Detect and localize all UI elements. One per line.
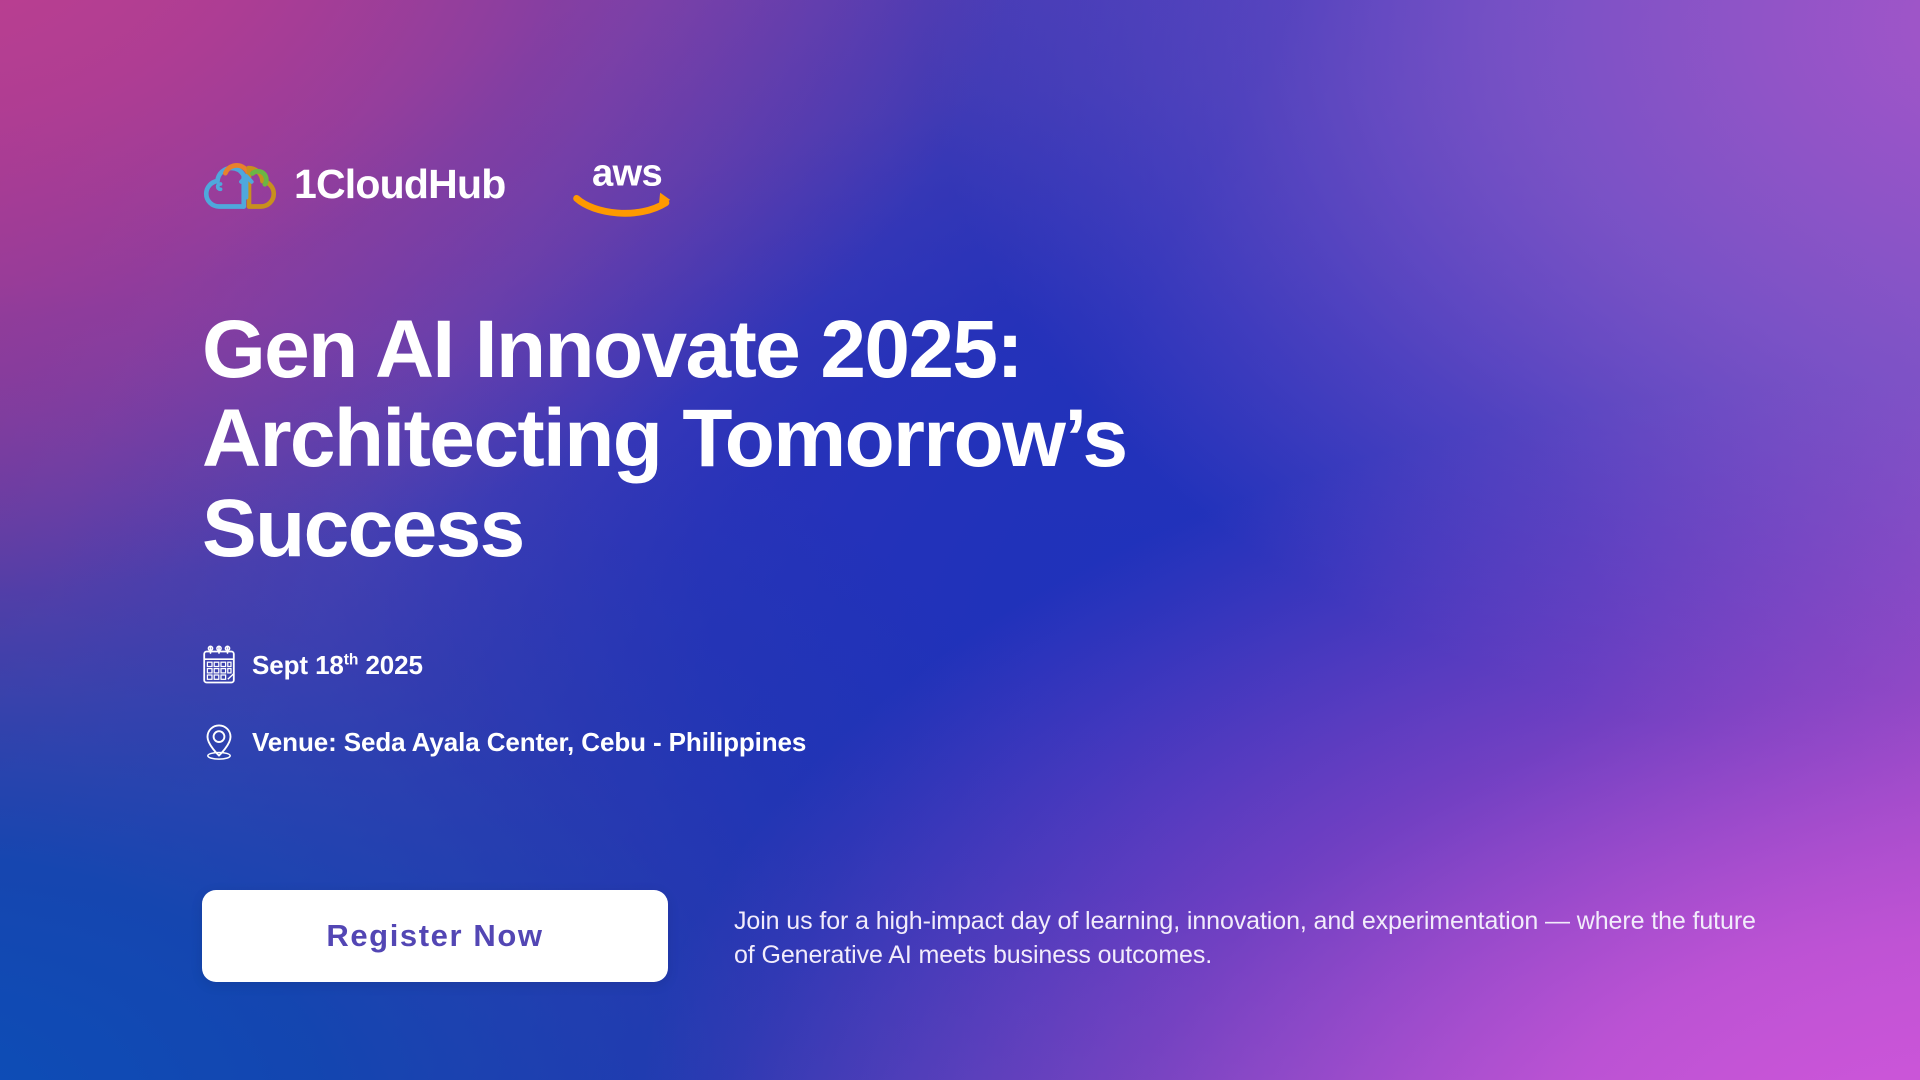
location-pin-icon	[202, 722, 236, 762]
event-date-row: Sept 18th 2025	[202, 645, 806, 685]
event-date-label: Sept 18th 2025	[252, 650, 423, 681]
register-now-button[interactable]: Register Now	[202, 890, 668, 982]
aws-logo-icon: aws	[569, 148, 685, 220]
1cloudhub-cloud-logo-icon	[202, 154, 278, 214]
svg-text:aws: aws	[592, 151, 662, 194]
event-description: Join us for a high-impact day of learnin…	[734, 890, 1774, 973]
headline-line-1: Gen AI Innovate 2025:	[202, 305, 1432, 394]
banner-content: 1CloudHub aws Gen AI Innovate 2025: Arch…	[202, 0, 1762, 1080]
cta-row: Register Now Join us for a high-impact d…	[202, 890, 1774, 982]
event-venue-label: Venue: Seda Ayala Center, Cebu - Philipp…	[252, 727, 806, 758]
brand-name-label: 1CloudHub	[294, 164, 505, 205]
headline-line-2: Architecting Tomorrow’s	[202, 394, 1432, 483]
logo-row: 1CloudHub aws	[202, 148, 685, 220]
page-title: Gen AI Innovate 2025: Architecting Tomor…	[202, 305, 1432, 573]
event-venue-row: Venue: Seda Ayala Center, Cebu - Philipp…	[202, 722, 806, 762]
calendar-icon	[202, 645, 236, 685]
headline-line-3: Success	[202, 484, 1432, 573]
event-details: Sept 18th 2025 Venue: Seda Ayala Center,…	[202, 645, 806, 762]
event-promo-banner: 1CloudHub aws Gen AI Innovate 2025: Arch…	[0, 0, 1920, 1080]
brand-1cloudhub: 1CloudHub	[202, 154, 505, 214]
